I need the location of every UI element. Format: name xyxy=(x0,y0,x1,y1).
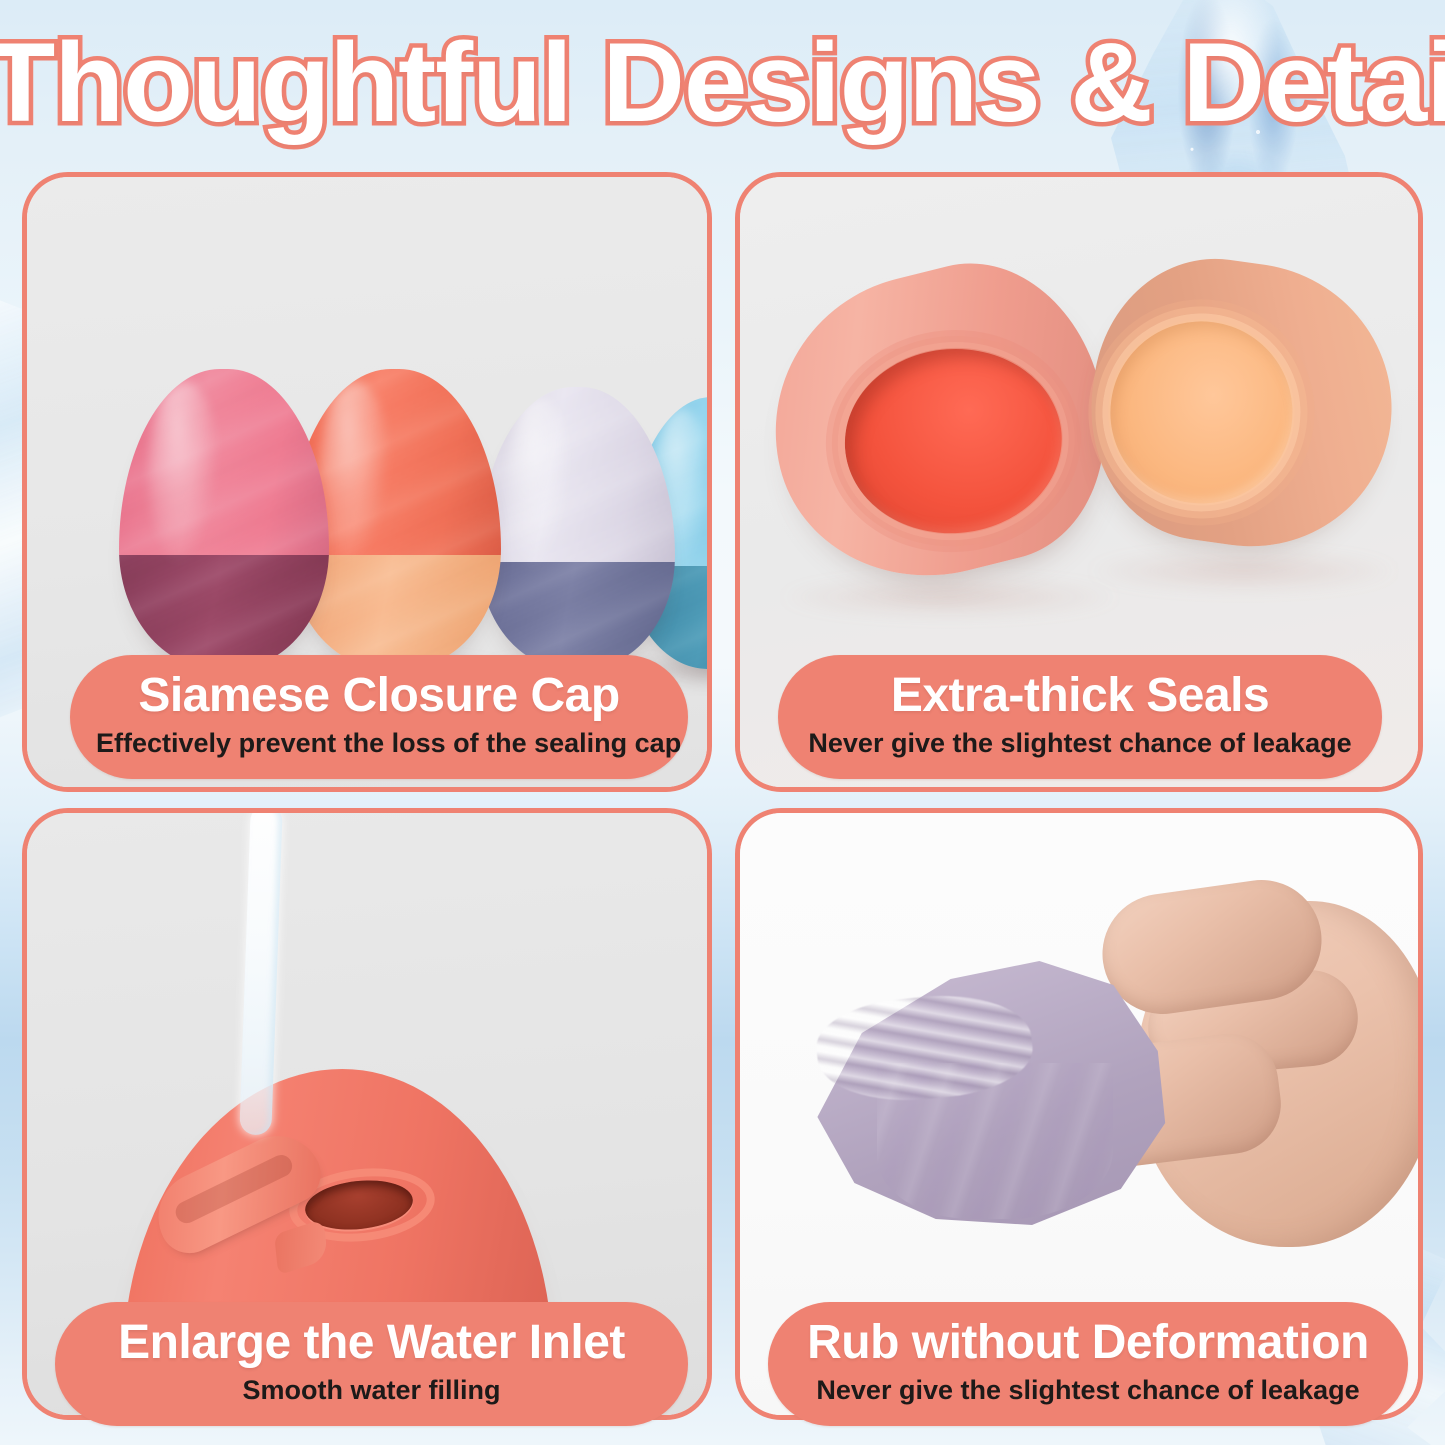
caption-siamese-closure-cap: Siamese Closure Cap Effectively prevent … xyxy=(70,655,688,779)
caption-subtitle: Never give the slightest chance of leaka… xyxy=(804,727,1356,761)
page-title: Thoughtful Designs & Details xyxy=(0,24,1445,142)
infographic-stage: Thoughtful Designs & Details xyxy=(0,0,1445,1445)
caption-rub-without-deformation: Rub without Deformation Never give the s… xyxy=(768,1302,1408,1426)
caption-subtitle: Smooth water filling xyxy=(81,1374,662,1408)
caption-extra-thick-seals: Extra-thick Seals Never give the slighte… xyxy=(778,655,1382,779)
caption-subtitle: Effectively prevent the loss of the seal… xyxy=(96,727,662,761)
product-capsule-pink xyxy=(119,369,329,669)
product-capsule-lavender xyxy=(479,387,675,669)
caption-title: Rub without Deformation xyxy=(794,1316,1382,1370)
caption-title: Enlarge the Water Inlet xyxy=(81,1316,662,1370)
caption-subtitle: Never give the slightest chance of leaka… xyxy=(794,1374,1382,1408)
product-cap-lavender-squeezed xyxy=(810,931,1180,1231)
caption-title: Siamese Closure Cap xyxy=(96,669,662,723)
caption-enlarge-the-water-inlet: Enlarge the Water Inlet Smooth water fil… xyxy=(55,1302,688,1426)
flip-cap-hinge xyxy=(274,1219,328,1276)
product-seal-coral xyxy=(743,238,1136,609)
product-seal-peach xyxy=(1074,243,1410,564)
caption-title: Extra-thick Seals xyxy=(804,669,1356,723)
